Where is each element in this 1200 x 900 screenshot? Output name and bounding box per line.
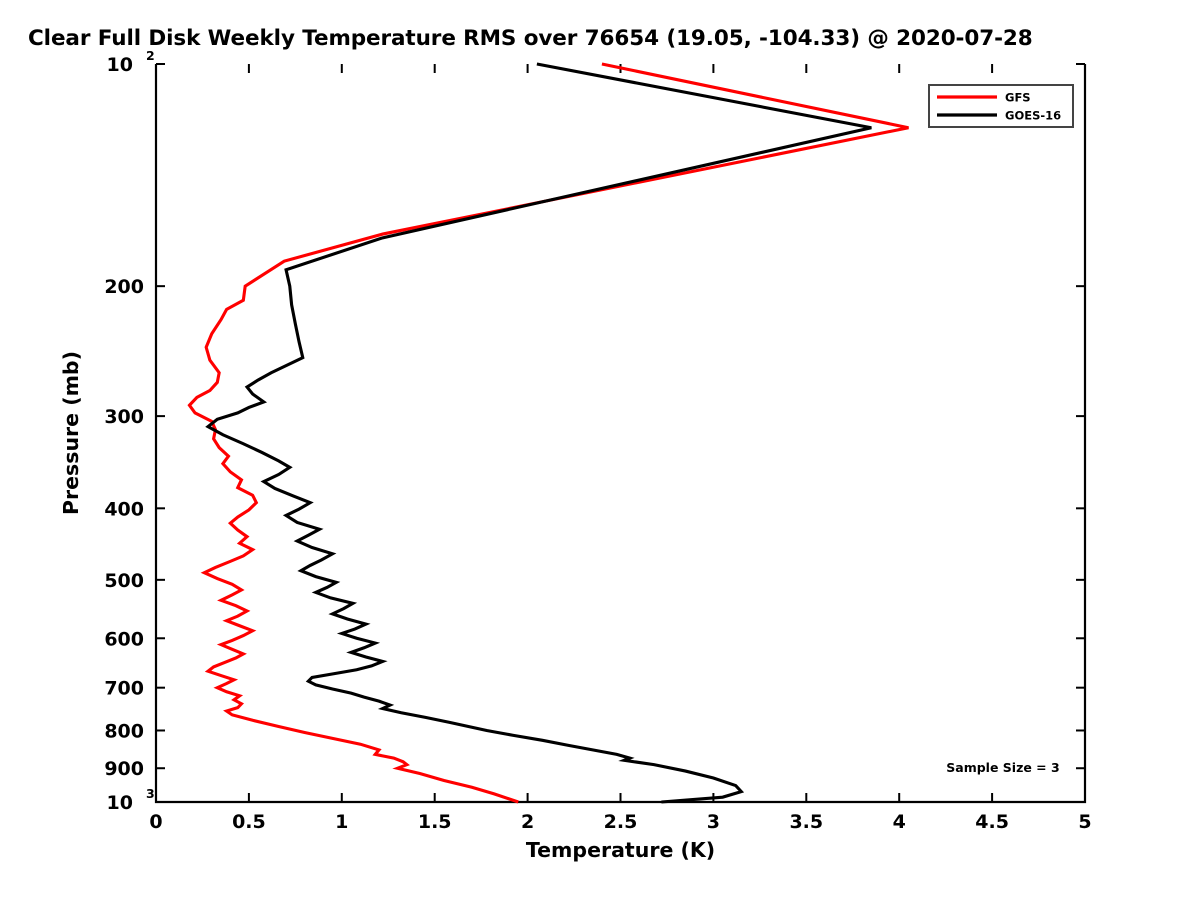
y-tick-label-base: 10	[107, 54, 133, 76]
axes-group: 00.511.522.533.544.551022003004005006007…	[59, 48, 1092, 862]
y-tick-label-exponent: 3	[146, 786, 155, 801]
plot-area: 00.511.522.533.544.551022003004005006007…	[0, 0, 1200, 900]
series-line-gfs	[189, 64, 908, 802]
y-tick-label-base: 400	[104, 498, 144, 520]
annotation-group: Sample Size = 3	[946, 760, 1059, 775]
legend-label-gfs: GFS	[1005, 91, 1031, 105]
y-tick-label: 200	[104, 276, 144, 298]
x-tick-label: 0	[149, 811, 162, 833]
y-tick-label: 800	[104, 720, 144, 742]
y-tick-label: 500	[104, 570, 144, 592]
x-tick-label: 4.5	[975, 811, 1009, 833]
x-tick-label: 1.5	[418, 811, 452, 833]
x-tick-label: 0.5	[232, 811, 266, 833]
figure-root: Clear Full Disk Weekly Temperature RMS o…	[0, 0, 1200, 900]
x-axis-label: Temperature (K)	[526, 838, 715, 862]
y-tick-label-exponent: 2	[146, 48, 155, 63]
series-line-goes-16	[208, 64, 871, 802]
axis-spines	[156, 64, 1085, 802]
y-tick-label-base: 200	[104, 276, 144, 298]
y-tick-label-base: 300	[104, 406, 144, 428]
legend-box[interactable]: GFSGOES-16	[929, 85, 1073, 127]
series-group	[189, 64, 908, 802]
x-tick-label: 2.5	[604, 811, 638, 833]
y-tick-label: 900	[104, 758, 144, 780]
y-tick-label-base: 10	[107, 792, 133, 814]
y-tick-label-base: 500	[104, 570, 144, 592]
x-tick-label: 2	[521, 811, 534, 833]
sample-size-annotation: Sample Size = 3	[946, 760, 1059, 775]
y-axis-label: Pressure (mb)	[59, 351, 83, 515]
y-tick-label: 300	[104, 406, 144, 428]
x-tick-label: 3	[707, 811, 720, 833]
y-tick-label: 600	[104, 628, 144, 650]
legend-label-goes-16: GOES-16	[1005, 109, 1061, 123]
y-tick-label-base: 700	[104, 678, 144, 700]
y-tick-label: 700	[104, 678, 144, 700]
x-tick-label: 3.5	[789, 811, 823, 833]
y-tick-label-base: 800	[104, 720, 144, 742]
y-tick-label-base: 900	[104, 758, 144, 780]
y-tick-label: 102	[107, 48, 155, 76]
x-tick-label: 1	[335, 811, 348, 833]
x-tick-label: 4	[893, 811, 906, 833]
y-tick-label-base: 600	[104, 628, 144, 650]
x-tick-label: 5	[1078, 811, 1091, 833]
y-tick-label: 400	[104, 498, 144, 520]
y-tick-label: 103	[107, 786, 155, 814]
